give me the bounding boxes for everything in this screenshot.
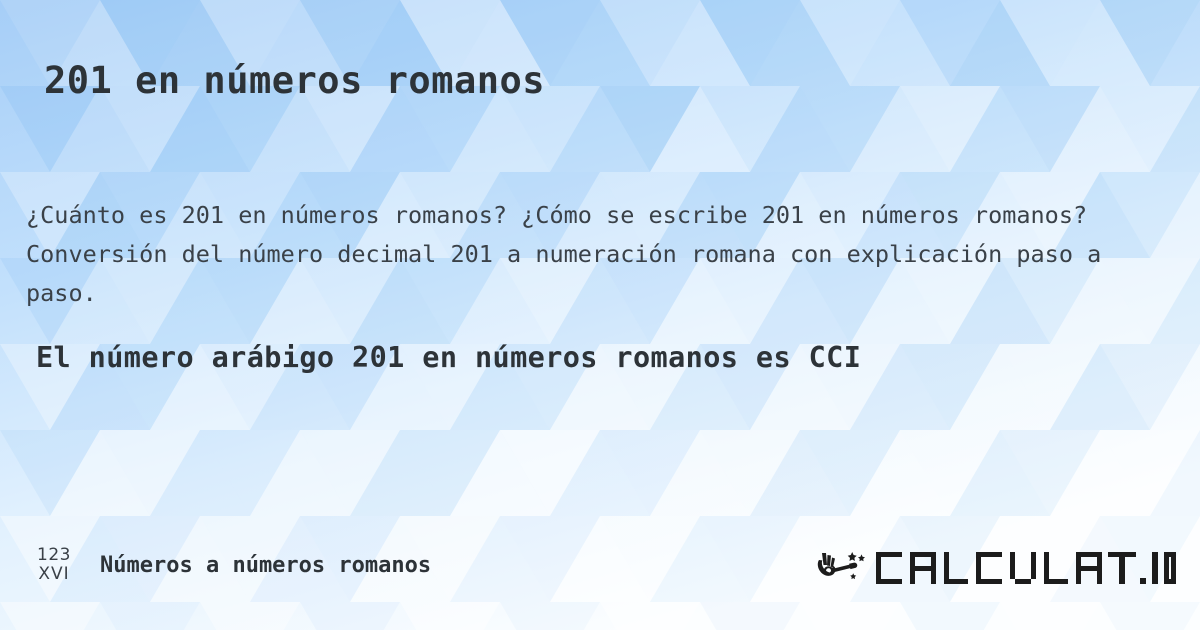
calculatio-lcd-wordmark bbox=[874, 550, 1176, 586]
brand-logo[interactable]: CALCULAT.IO bbox=[816, 548, 1176, 588]
footer-category-label: Números a números romanos bbox=[100, 553, 431, 578]
footer: 123 XVI Números a números romanos bbox=[0, 540, 1200, 610]
logo-roman-text: XVI bbox=[28, 565, 80, 584]
page-title: 201 en números romanos bbox=[44, 59, 545, 102]
logo-arabic-text: 123 bbox=[37, 545, 71, 565]
og-image-card: 201 en números romanos ¿Cuánto es 201 en… bbox=[0, 0, 1200, 630]
brand-wordmark: CALCULAT.IO bbox=[874, 550, 1176, 586]
footer-category[interactable]: 123 XVI Números a números romanos bbox=[28, 546, 431, 584]
answer-statement: El número arábigo 201 en números romanos… bbox=[36, 341, 861, 374]
numbers-to-roman-logo-icon: 123 XVI bbox=[28, 546, 80, 584]
intro-paragraph: ¿Cuánto es 201 en números romanos? ¿Cómo… bbox=[26, 196, 1176, 313]
hand-wand-icon bbox=[816, 548, 868, 588]
